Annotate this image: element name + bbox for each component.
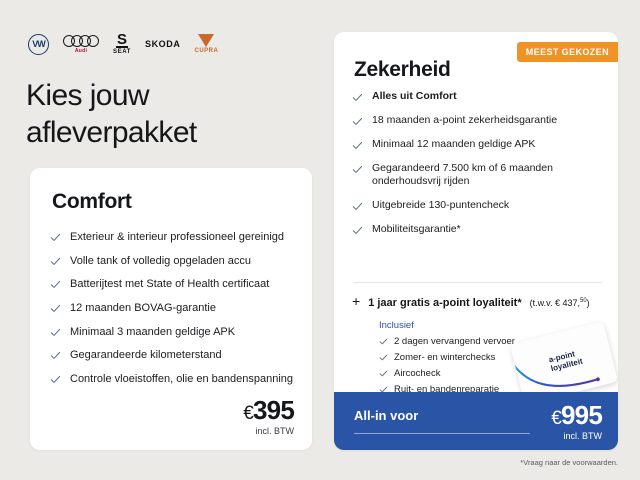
feature-text: 12 maanden BOVAG-garantie — [70, 301, 216, 316]
plus-icon: + — [352, 294, 360, 308]
list-item: 18 maanden a-point zekerheidsgarantie — [352, 114, 604, 128]
zekerheid-price: €995 — [551, 402, 602, 428]
feature-text: Mobiliteitsgarantie* — [372, 223, 461, 237]
list-item: 2 dagen vervangend vervoer — [379, 336, 515, 347]
check-icon — [379, 353, 388, 362]
skoda-logo-icon: SKODA — [145, 39, 181, 49]
check-icon — [50, 350, 61, 361]
seat-logo-icon: S SEAT — [113, 33, 131, 55]
list-item: Batterijtest met State of Health certifi… — [50, 277, 296, 292]
price-amount: 395 — [253, 395, 294, 425]
footer-rule — [354, 433, 530, 434]
check-icon — [50, 232, 61, 243]
feature-text: Gegarandeerd 7.500 km of 6 maanden onder… — [372, 162, 604, 190]
check-icon — [352, 116, 363, 127]
footer-price-label: All-in voor — [354, 408, 418, 423]
feature-text: Alles uit Comfort — [372, 90, 457, 104]
check-icon — [50, 303, 61, 314]
check-icon — [352, 201, 363, 212]
check-icon — [379, 337, 388, 346]
feature-text: Gegarandeerde kilometerstand — [70, 348, 222, 363]
feature-text: Minimaal 3 maanden geldige APK — [70, 325, 235, 340]
seat-logo-label: SEAT — [113, 49, 131, 55]
check-icon — [352, 92, 363, 103]
comfort-feature-list: Exterieur & interieur professioneel gere… — [50, 230, 296, 395]
list-item: Volle tank of volledig opgeladen accu — [50, 254, 296, 269]
feature-text: Uitgebreide 130-puntencheck — [372, 199, 509, 213]
list-item: Mobiliteitsgarantie* — [352, 223, 604, 237]
feature-text: 18 maanden a-point zekerheidsgarantie — [372, 114, 557, 128]
footer-price-block: €995 incl. BTW — [551, 402, 602, 441]
loyalty-value-cents: 50 — [580, 298, 587, 304]
check-icon — [50, 327, 61, 338]
zekerheid-price-note: incl. BTW — [551, 431, 602, 441]
list-item: Controle vloeistoffen, olie en bandenspa… — [50, 372, 296, 387]
included-item-text: 2 dagen vervangend vervoer — [394, 336, 515, 347]
feature-text: Batterijtest met State of Health certifi… — [70, 277, 269, 292]
included-block: Inclusief 2 dagen vervangend vervoer Zom… — [379, 320, 515, 400]
zekerheid-card-title: Zekerheid — [354, 58, 451, 82]
included-item-text: Zomer- en winterchecks — [394, 352, 495, 363]
check-icon — [50, 256, 61, 267]
currency-symbol: € — [551, 408, 561, 429]
check-icon — [50, 279, 61, 290]
list-item: Exterieur & interieur professioneel gere… — [50, 230, 296, 245]
currency-symbol: € — [243, 403, 253, 424]
list-item: Minimaal 3 maanden geldige APK — [50, 325, 296, 340]
zekerheid-feature-list: Alles uit Comfort 18 maanden a-point zek… — [352, 90, 604, 247]
loyalty-title: 1 jaar gratis a-point loyaliteit* — [368, 297, 521, 309]
section-divider — [354, 282, 602, 283]
audi-logo-icon: Audi — [63, 35, 99, 54]
loyalty-value-note: (t.w.v. € 437,50) — [530, 298, 590, 308]
footnote-text: *Vraag naar de voorwaarden. — [520, 458, 618, 467]
check-icon — [352, 164, 363, 175]
check-icon — [379, 369, 388, 378]
cupra-logo-label: CUPRA — [194, 48, 218, 54]
loyalty-headline-row: + 1 jaar gratis a-point loyaliteit* (t.w… — [352, 294, 608, 309]
comfort-price: €395 — [243, 397, 294, 423]
zekerheid-price-footer: All-in voor €995 incl. BTW — [334, 392, 618, 450]
included-item-text: Aircocheck — [394, 368, 440, 379]
price-amount: 995 — [561, 400, 602, 430]
comfort-package-card[interactable]: Comfort Exterieur & interieur profession… — [30, 168, 312, 450]
brand-logo-row: Audi S SEAT SKODA CUPRA — [28, 30, 218, 58]
feature-text: Volle tank of volledig opgeladen accu — [70, 254, 251, 269]
zekerheid-package-card[interactable]: MEEST GEKOZEN Zekerheid Alles uit Comfor… — [334, 32, 618, 450]
list-item: Minimaal 12 maanden geldige APK — [352, 138, 604, 152]
list-item: Uitgebreide 130-puntencheck — [352, 199, 604, 213]
cupra-logo-icon: CUPRA — [194, 34, 218, 54]
check-icon — [352, 225, 363, 236]
page-title: Kies jouw afleverpakket — [26, 78, 306, 151]
check-icon — [352, 140, 363, 151]
check-icon — [50, 374, 61, 385]
comfort-price-note: incl. BTW — [243, 426, 294, 436]
list-item: 12 maanden BOVAG-garantie — [50, 301, 296, 316]
loyalty-value-prefix: (t.w.v. € 437, — [530, 298, 580, 308]
list-item: Gegarandeerd 7.500 km of 6 maanden onder… — [352, 162, 604, 190]
list-item: Aircocheck — [379, 368, 515, 379]
volkswagen-logo-icon — [28, 34, 49, 55]
left-column: Audi S SEAT SKODA CUPRA Kies jouw afleve… — [0, 0, 320, 480]
comfort-card-title: Comfort — [52, 190, 132, 214]
promo-page: Audi S SEAT SKODA CUPRA Kies jouw afleve… — [0, 0, 640, 480]
skoda-logo-label: SKODA — [145, 39, 181, 49]
audi-logo-label: Audi — [75, 48, 87, 54]
included-label: Inclusief — [379, 320, 515, 331]
list-item: Zomer- en winterchecks — [379, 352, 515, 363]
list-item: Alles uit Comfort — [352, 90, 604, 104]
feature-text: Exterieur & interieur professioneel gere… — [70, 230, 284, 245]
list-item: Gegarandeerde kilometerstand — [50, 348, 296, 363]
feature-text: Controle vloeistoffen, olie en bandenspa… — [70, 372, 293, 387]
loyalty-value-suffix: ) — [587, 298, 590, 308]
feature-text: Minimaal 12 maanden geldige APK — [372, 138, 535, 152]
comfort-price-block: €395 incl. BTW — [243, 397, 294, 436]
status-badge: MEEST GEKOZEN — [517, 42, 618, 62]
